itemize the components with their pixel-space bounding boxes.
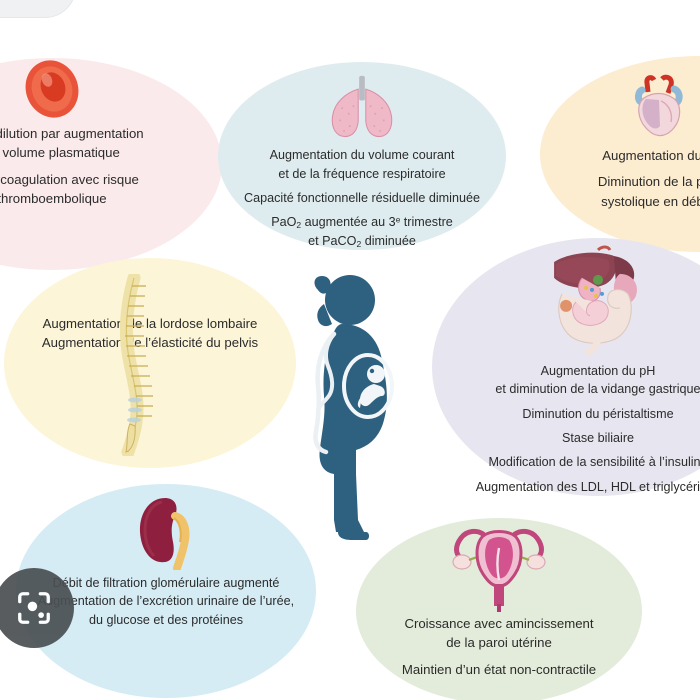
bubble-cardiac: Augmentation du débit cardiaque Diminuti… bbox=[540, 56, 700, 252]
text-line: du volume plasmatique bbox=[0, 143, 214, 162]
text-line: Augmentation du pH bbox=[440, 362, 700, 380]
kidney-icon bbox=[135, 494, 197, 570]
bubble-hematologic: Hémodilution par augmentation du volume … bbox=[0, 58, 222, 270]
cut-off-chip[interactable] bbox=[0, 0, 76, 18]
text-line: Hypercoagulation avec risque bbox=[0, 170, 214, 189]
bubble-digestive-text: Augmentation du pH et diminution de la v… bbox=[432, 362, 700, 496]
text-line: thromboembolique bbox=[0, 189, 214, 208]
text-line: de la paroi utérine bbox=[364, 633, 634, 652]
text-line: systolique en début de grossesse bbox=[548, 192, 700, 211]
bubble-respiratory-text: Augmentation du volume courant et de la … bbox=[218, 146, 506, 250]
pregnant-woman-silhouette bbox=[294, 274, 412, 542]
text-line-formula: PaO2 augmentée au 3e trimestre bbox=[226, 213, 498, 231]
bubble-hematologic-text: Hémodilution par augmentation du volume … bbox=[0, 124, 222, 208]
text-line: Augmentation du débit cardiaque bbox=[548, 146, 700, 165]
bubble-digestive: Augmentation du pH et diminution de la v… bbox=[432, 238, 700, 496]
uterus-icon bbox=[439, 526, 559, 612]
bubble-cardiac-text: Augmentation du débit cardiaque Diminuti… bbox=[540, 146, 700, 211]
text-line: et diminution de la vidange gastrique bbox=[440, 380, 700, 398]
text-line: Diminution du péristaltisme bbox=[440, 405, 700, 423]
text-line: Stase biliaire bbox=[440, 429, 700, 447]
text-line: Augmentation des LDL, HDL et triglycérid… bbox=[440, 478, 700, 496]
infographic-canvas: Hémodilution par augmentation du volume … bbox=[0, 0, 700, 700]
text-line: Hémodilution par augmentation bbox=[0, 124, 214, 143]
google-lens-icon bbox=[15, 589, 53, 627]
spine-icon bbox=[108, 274, 168, 456]
text-line: Modification de la sensibilité à l’insul… bbox=[440, 453, 700, 471]
text-line: Diminution de la pression artérielle bbox=[548, 172, 700, 191]
digestive-system-icon bbox=[536, 244, 660, 356]
red-blood-cell-icon bbox=[17, 58, 87, 120]
bubble-uterine: Croissance avec amincissement de la paro… bbox=[356, 518, 642, 700]
text-line: et de la fréquence respiratoire bbox=[226, 165, 498, 183]
bubble-uterine-text: Croissance avec amincissement de la paro… bbox=[356, 614, 642, 679]
bubble-musculoskeletal: Augmentation de la lordose lombaire Augm… bbox=[4, 258, 296, 468]
lungs-icon bbox=[319, 74, 405, 144]
heart-icon bbox=[628, 74, 690, 142]
text-line: Croissance avec amincissement bbox=[364, 614, 634, 633]
text-line: Capacité fonctionnelle résiduelle diminu… bbox=[226, 189, 498, 207]
text-line: Maintien d’un état non-contractile bbox=[364, 660, 634, 679]
text-line: Augmentation du volume courant bbox=[226, 146, 498, 164]
text-line-formula: et PaCO2 diminuée bbox=[226, 232, 498, 250]
bubble-respiratory: Augmentation du volume courant et de la … bbox=[218, 62, 506, 250]
